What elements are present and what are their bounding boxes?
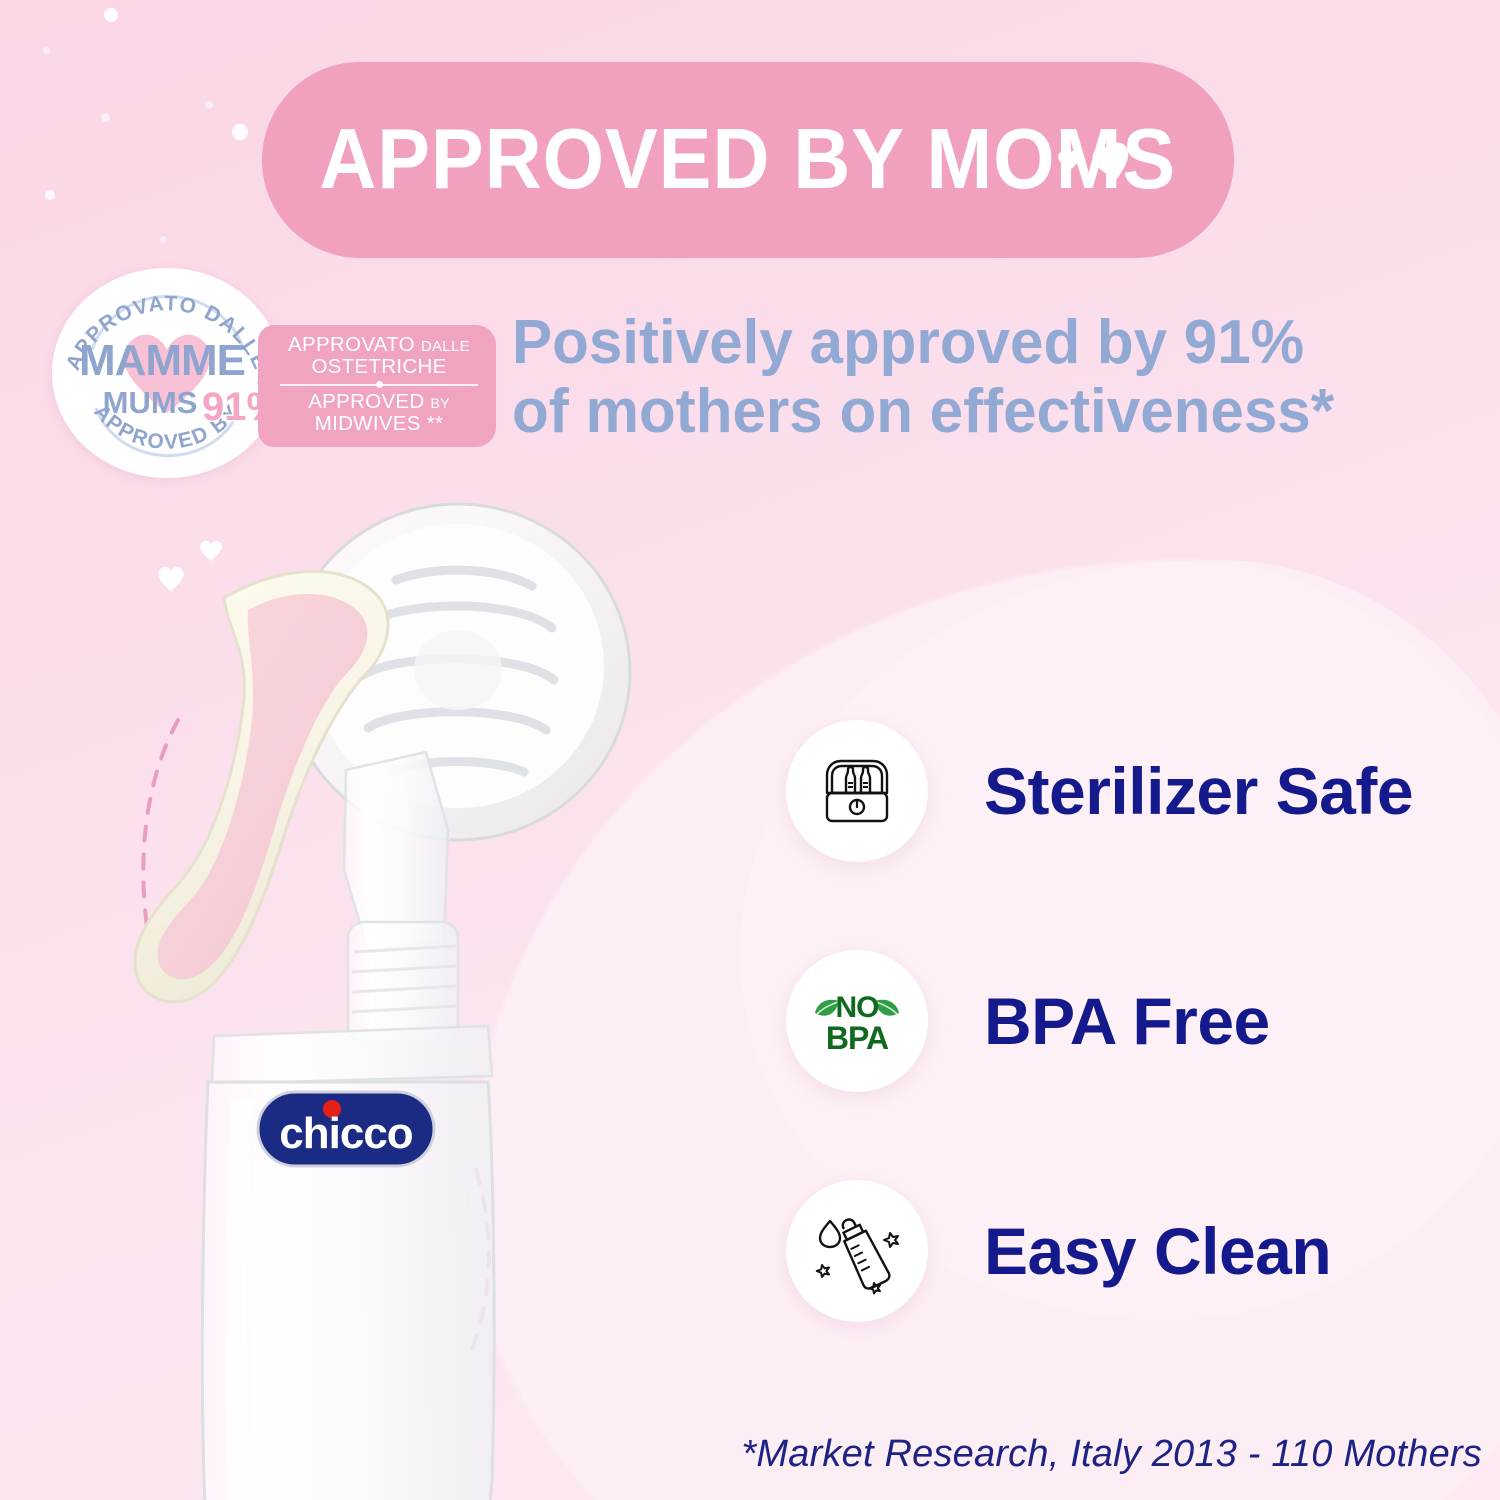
midwives-line4: MIDWIVES ** [272,413,486,435]
feature-label: BPA Free [984,983,1270,1059]
seal-mamme: MAMME [79,336,245,385]
banner-heart-icons [1052,140,1142,200]
headline-line2: of mothers on effectiveness* [512,377,1463,446]
heart-small-icon [1056,148,1082,172]
banner-title: APPROVED BY MOMS [320,111,1177,209]
seal-circle: APPROVATO DALLE APPROVED BY MAMME MUMS 9… [52,268,282,478]
approved-by-moms-banner: APPROVED BY MOMS [262,62,1234,258]
footnote-market-research: *Market Research, Italy 2013 - 110 Mothe… [741,1433,1482,1476]
midwives-approval-tag: APPROVATO DALLE OSTETRICHE APPROVED BY M… [258,325,496,447]
no-bpa-icon: NO BPA [809,979,905,1063]
feature-row-easy-clean: Easy Clean [786,1136,1486,1366]
midwives-divider [280,380,478,389]
seal-graphic: APPROVATO DALLE APPROVED BY MAMME MUMS 9… [52,268,282,478]
feature-icon-circle: NO BPA [786,950,928,1092]
midwives-line3-small: BY [431,395,450,411]
heart-small-icon [198,538,224,567]
midwives-line2: OSTETRICHE [272,356,486,378]
headline-line1: Positively approved by 91% [512,308,1304,377]
feature-icon-circle [786,1180,928,1322]
midwives-line1-main: APPROVATO [288,333,415,356]
product-heart-decorations [156,538,266,608]
feature-label: Easy Clean [984,1213,1331,1289]
seal-mums: MUMS [103,385,198,420]
feature-label: Sterilizer Safe [984,753,1413,829]
sterilizer-icon [815,749,899,833]
product-image-breast-pump: chicco [96,470,696,1500]
feature-icon-circle [786,720,928,862]
feature-list: Sterilizer Safe NO BPA BPA Free [786,676,1486,1366]
midwives-line3: APPROVED BY [272,391,486,413]
midwives-line1-small: DALLE [421,338,470,355]
headline: Positively approved by 91% of mothers on… [512,308,1463,447]
chicco-logo-text: chicco [279,1109,413,1158]
midwives-line3-main: APPROVED [308,390,424,413]
heart-small-icon [156,564,186,597]
feature-row-sterilizer: Sterilizer Safe [786,676,1486,906]
product-illustration: chicco [96,470,696,1500]
chicco-logo: chicco [258,1092,434,1166]
feature-row-bpa: NO BPA BPA Free [786,906,1486,1136]
midwives-line1: APPROVATO DALLE [272,334,486,356]
svg-text:BPA: BPA [826,1020,889,1056]
easy-clean-bottle-icon [812,1207,902,1295]
heart-large-icon [1086,135,1139,186]
